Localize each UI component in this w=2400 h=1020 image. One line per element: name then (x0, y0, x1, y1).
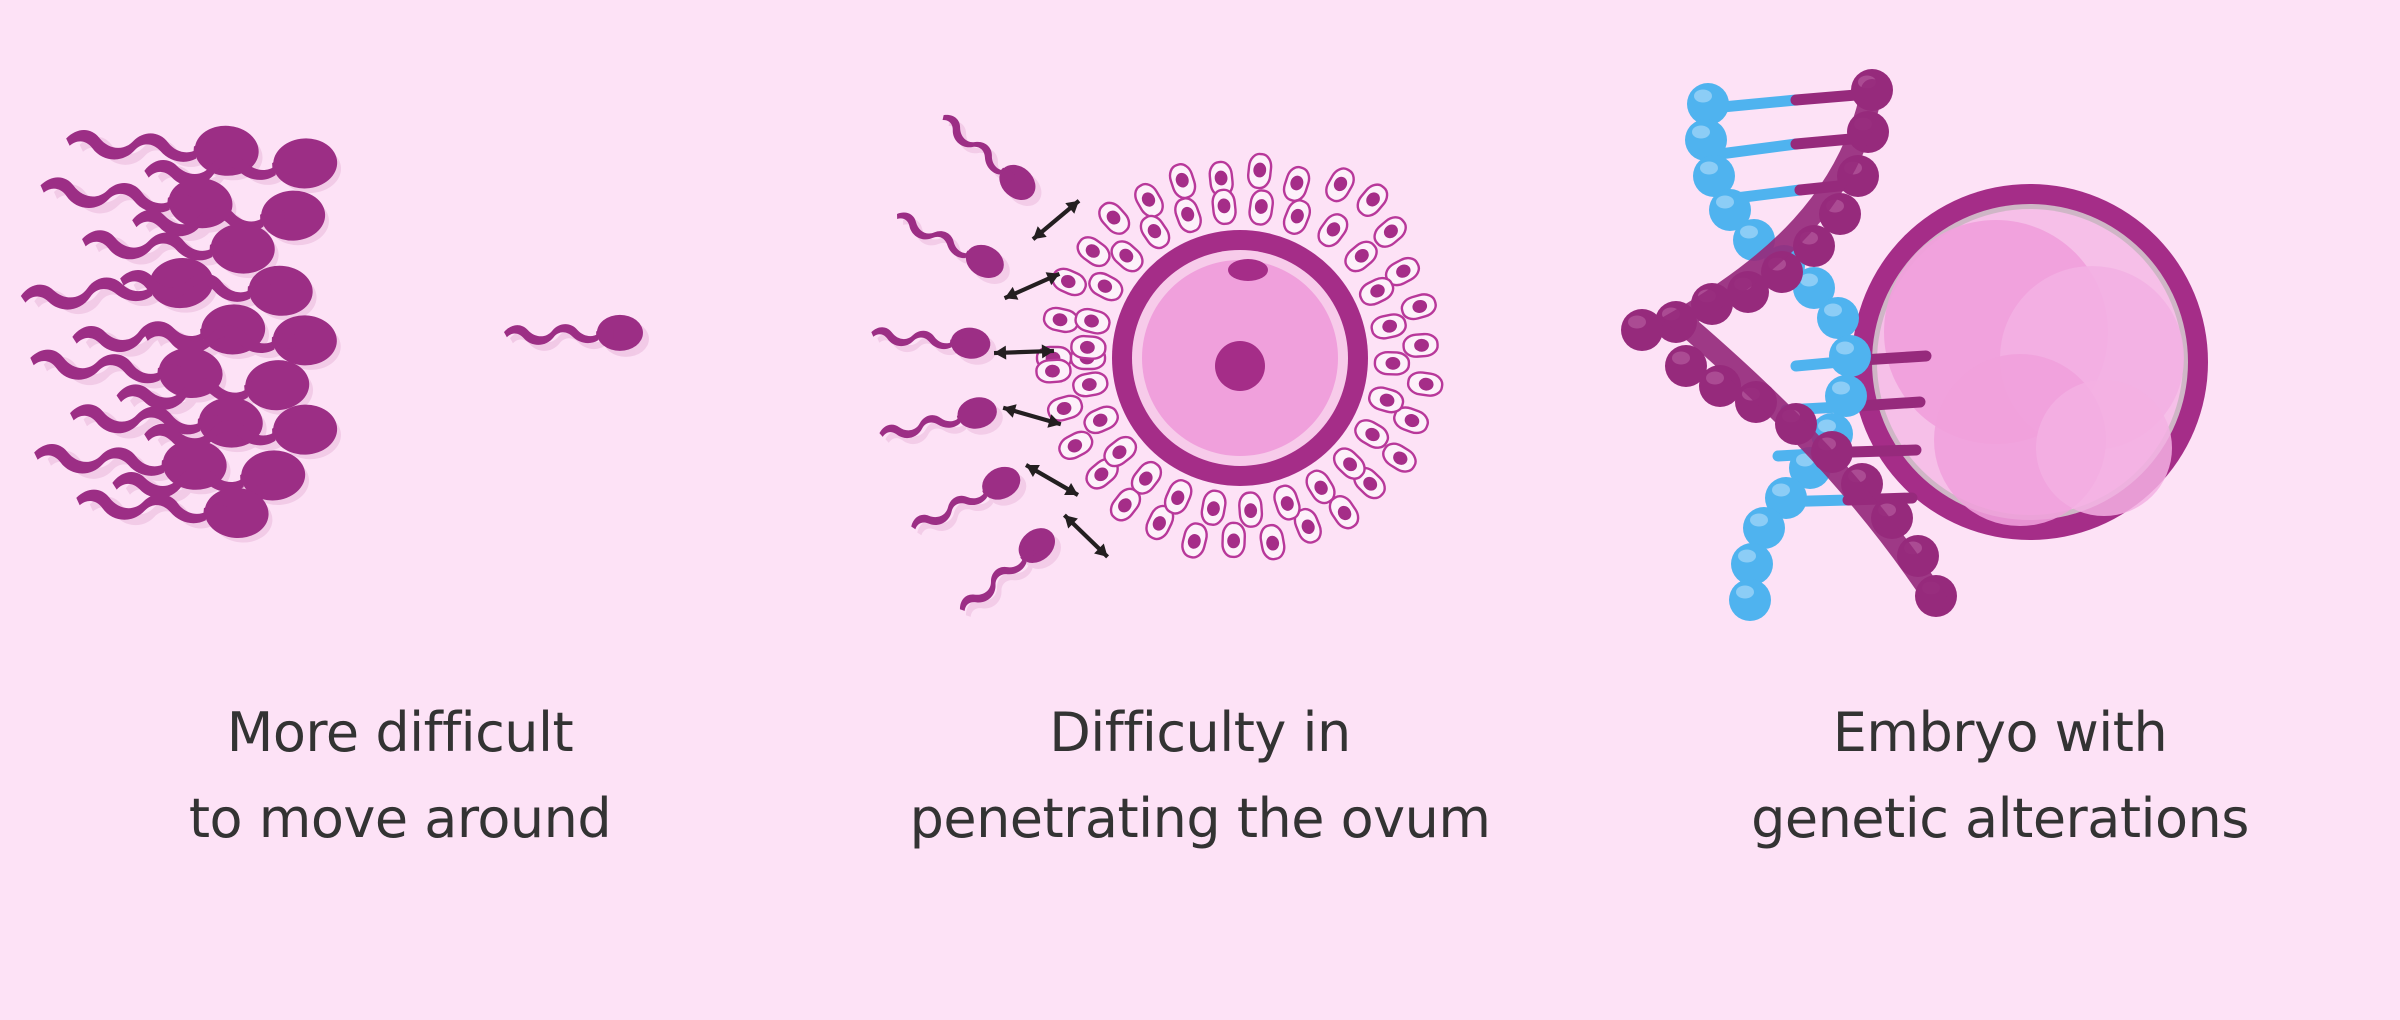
caption-line: genetic alterations (1600, 776, 2400, 862)
panel-ovum-penetration: Difficulty in penetrating the ovum (800, 0, 1600, 1020)
embryo-dna-illustration (1600, 80, 2400, 640)
panel-caption-ovum-penetration: Difficulty in penetrating the ovum (800, 690, 1600, 862)
repulsion-arrow (1060, 510, 1113, 562)
sperm-cluster-group (19, 115, 342, 545)
caption-line: Embryo with (1600, 690, 2400, 776)
ovum-group (1036, 153, 1444, 561)
ovum-with-sperm-illustration (800, 80, 1600, 640)
polar-body (1228, 259, 1268, 281)
caption-line: penetrating the ovum (800, 776, 1600, 862)
sperm-cluster-illustration (0, 80, 800, 640)
blastomere (2036, 380, 2172, 516)
caption-line: Difficulty in (800, 690, 1600, 776)
panel-sperm-motility: More difficult to move around (0, 0, 800, 1020)
infographic-root: More difficult to move around (0, 0, 2400, 1020)
repulsion-arrow (1002, 267, 1063, 304)
panel-caption-sperm-motility: More difficult to move around (0, 690, 800, 862)
single-sperm (504, 315, 649, 357)
ovum-nucleus (1215, 341, 1265, 391)
detached-nucleotide (1621, 309, 1663, 351)
repulsion-arrow (1023, 459, 1082, 501)
panel-caption-embryo-genetics: Embryo with genetic alterations (1600, 690, 2400, 862)
caption-line: to move around (0, 776, 800, 862)
caption-line: More difficult (0, 690, 800, 776)
panel-embryo-genetics: Embryo with genetic alterations (1600, 0, 2400, 1020)
